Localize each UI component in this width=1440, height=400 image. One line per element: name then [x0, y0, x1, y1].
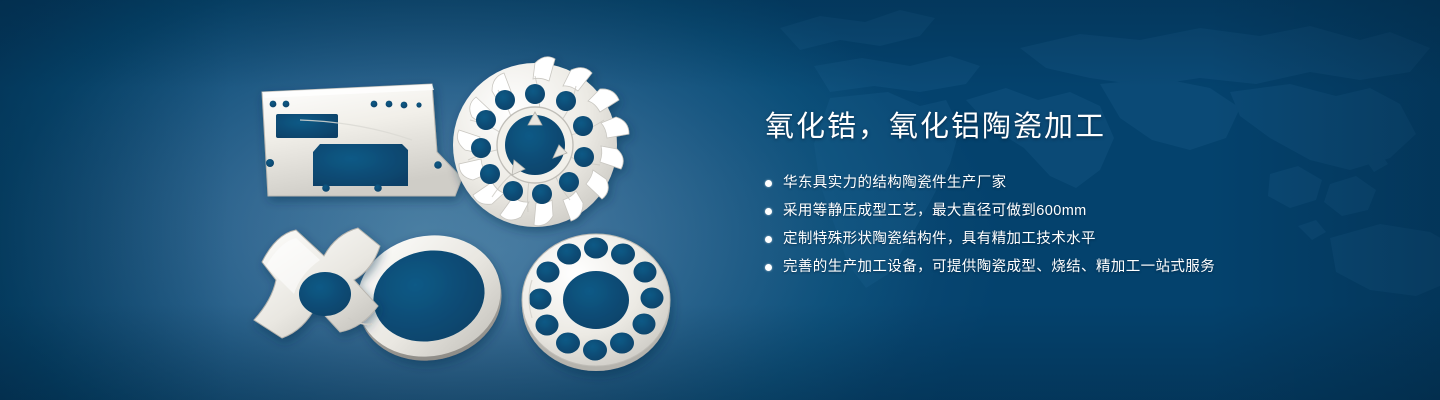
banner-copy: 氧化锆，氧化铝陶瓷加工 华东具实力的结构陶瓷件生产厂家 采用等静压成型工艺，最大… [765, 108, 1385, 284]
bullet-dot-icon [765, 264, 772, 271]
ceramic-impeller-shape [453, 57, 629, 227]
list-item: 采用等静压成型工艺，最大直径可做到600mm [765, 200, 1385, 223]
feature-list: 华东具实力的结构陶瓷件生产厂家 采用等静压成型工艺，最大直径可做到600mm 定… [765, 172, 1385, 279]
ceramic-products-image [0, 0, 720, 400]
bullet-dot-icon [765, 208, 772, 215]
feature-text: 华东具实力的结构陶瓷件生产厂家 [783, 172, 1007, 195]
bullet-dot-icon [765, 236, 772, 243]
feature-text: 采用等静压成型工艺，最大直径可做到600mm [783, 200, 1087, 223]
page-title: 氧化锆，氧化铝陶瓷加工 [765, 108, 1385, 146]
ceramic-perforated-disc-shape [522, 234, 670, 371]
list-item: 华东具实力的结构陶瓷件生产厂家 [765, 172, 1385, 195]
promo-banner: 氧化锆，氧化铝陶瓷加工 华东具实力的结构陶瓷件生产厂家 采用等静压成型工艺，最大… [0, 0, 1440, 400]
feature-text: 完善的生产加工设备，可提供陶瓷成型、烧结、精加工一站式服务 [783, 256, 1215, 279]
list-item: 完善的生产加工设备，可提供陶瓷成型、烧结、精加工一站式服务 [765, 256, 1385, 279]
bullet-dot-icon [765, 180, 772, 187]
ceramic-mounting-plate-shape [262, 84, 462, 196]
list-item: 定制特殊形状陶瓷结构件，具有精加工技术水平 [765, 228, 1385, 251]
feature-text: 定制特殊形状陶瓷结构件，具有精加工技术水平 [783, 228, 1096, 251]
